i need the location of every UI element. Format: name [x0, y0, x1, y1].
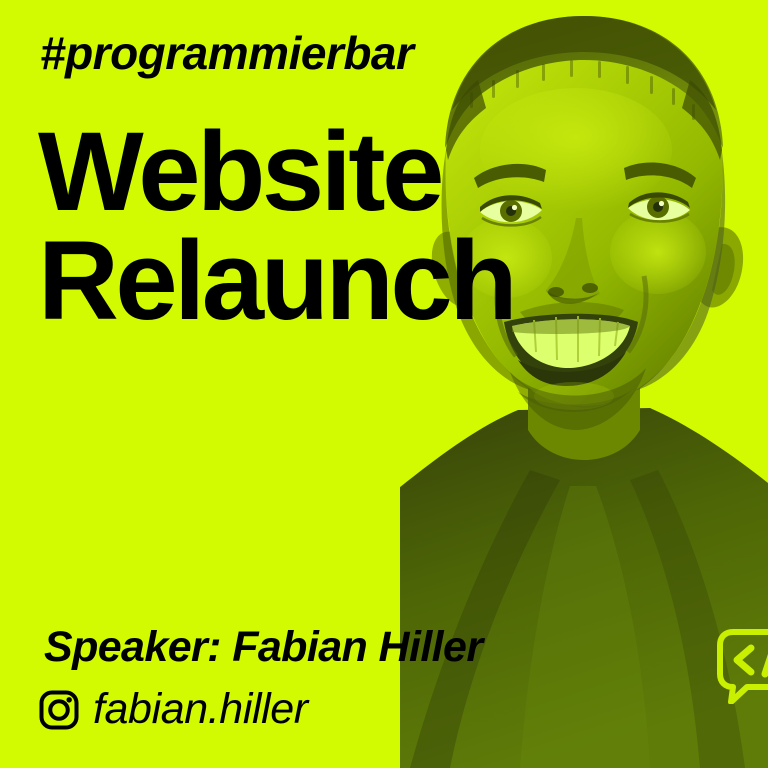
instagram-icon: [38, 689, 80, 731]
speaker-name: Speaker: Fabian Hiller: [44, 626, 482, 669]
text-layer: #programmierbar Website Relaunch Speaker…: [0, 0, 768, 768]
podcast-hashtag: #programmierbar: [40, 30, 413, 76]
code-speech-bubble-artwork: [713, 626, 768, 704]
episode-title-line-2: Relaunch: [38, 227, 514, 336]
podcast-episode-poster: #programmierbar Website Relaunch Speaker…: [0, 0, 768, 768]
code-speech-bubble-logo: [713, 626, 768, 704]
episode-title-line-1: Website: [38, 118, 514, 227]
instagram-handle-row: fabian.hiller: [38, 688, 308, 731]
instagram-handle-text: fabian.hiller: [93, 688, 308, 731]
episode-title: Website Relaunch: [38, 118, 514, 335]
